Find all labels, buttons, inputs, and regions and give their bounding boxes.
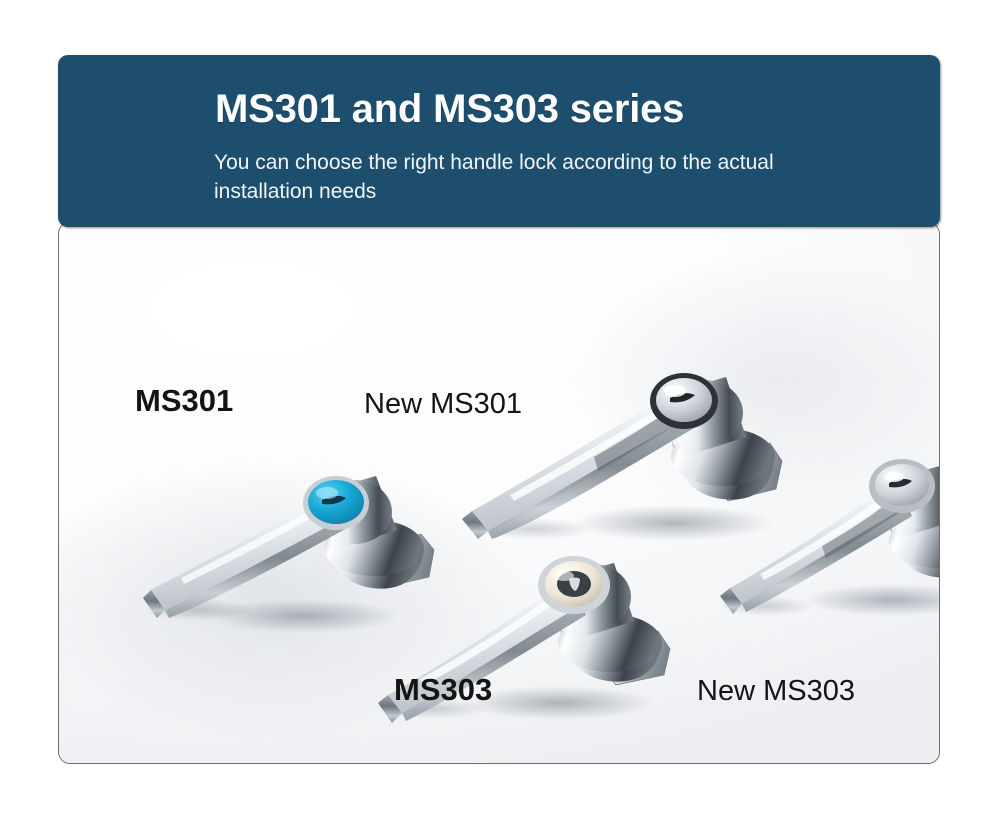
page-title: MS301 and MS303 series <box>215 87 684 132</box>
product-label-new-ms301: New MS301 <box>364 388 522 421</box>
product-label-ms303: MS303 <box>394 672 492 708</box>
page-subtitle: You can choose the right handle lock acc… <box>214 148 834 206</box>
product-label-new-ms303: New MS303 <box>697 675 855 708</box>
header-banner: MS301 and MS303 series You can choose th… <box>58 55 940 227</box>
product-photo-panel: MS301 New MS301 MS303 New MS303 <box>58 222 940 764</box>
product-label-ms301: MS301 <box>135 383 233 419</box>
product-image-new-ms303 <box>714 428 940 628</box>
